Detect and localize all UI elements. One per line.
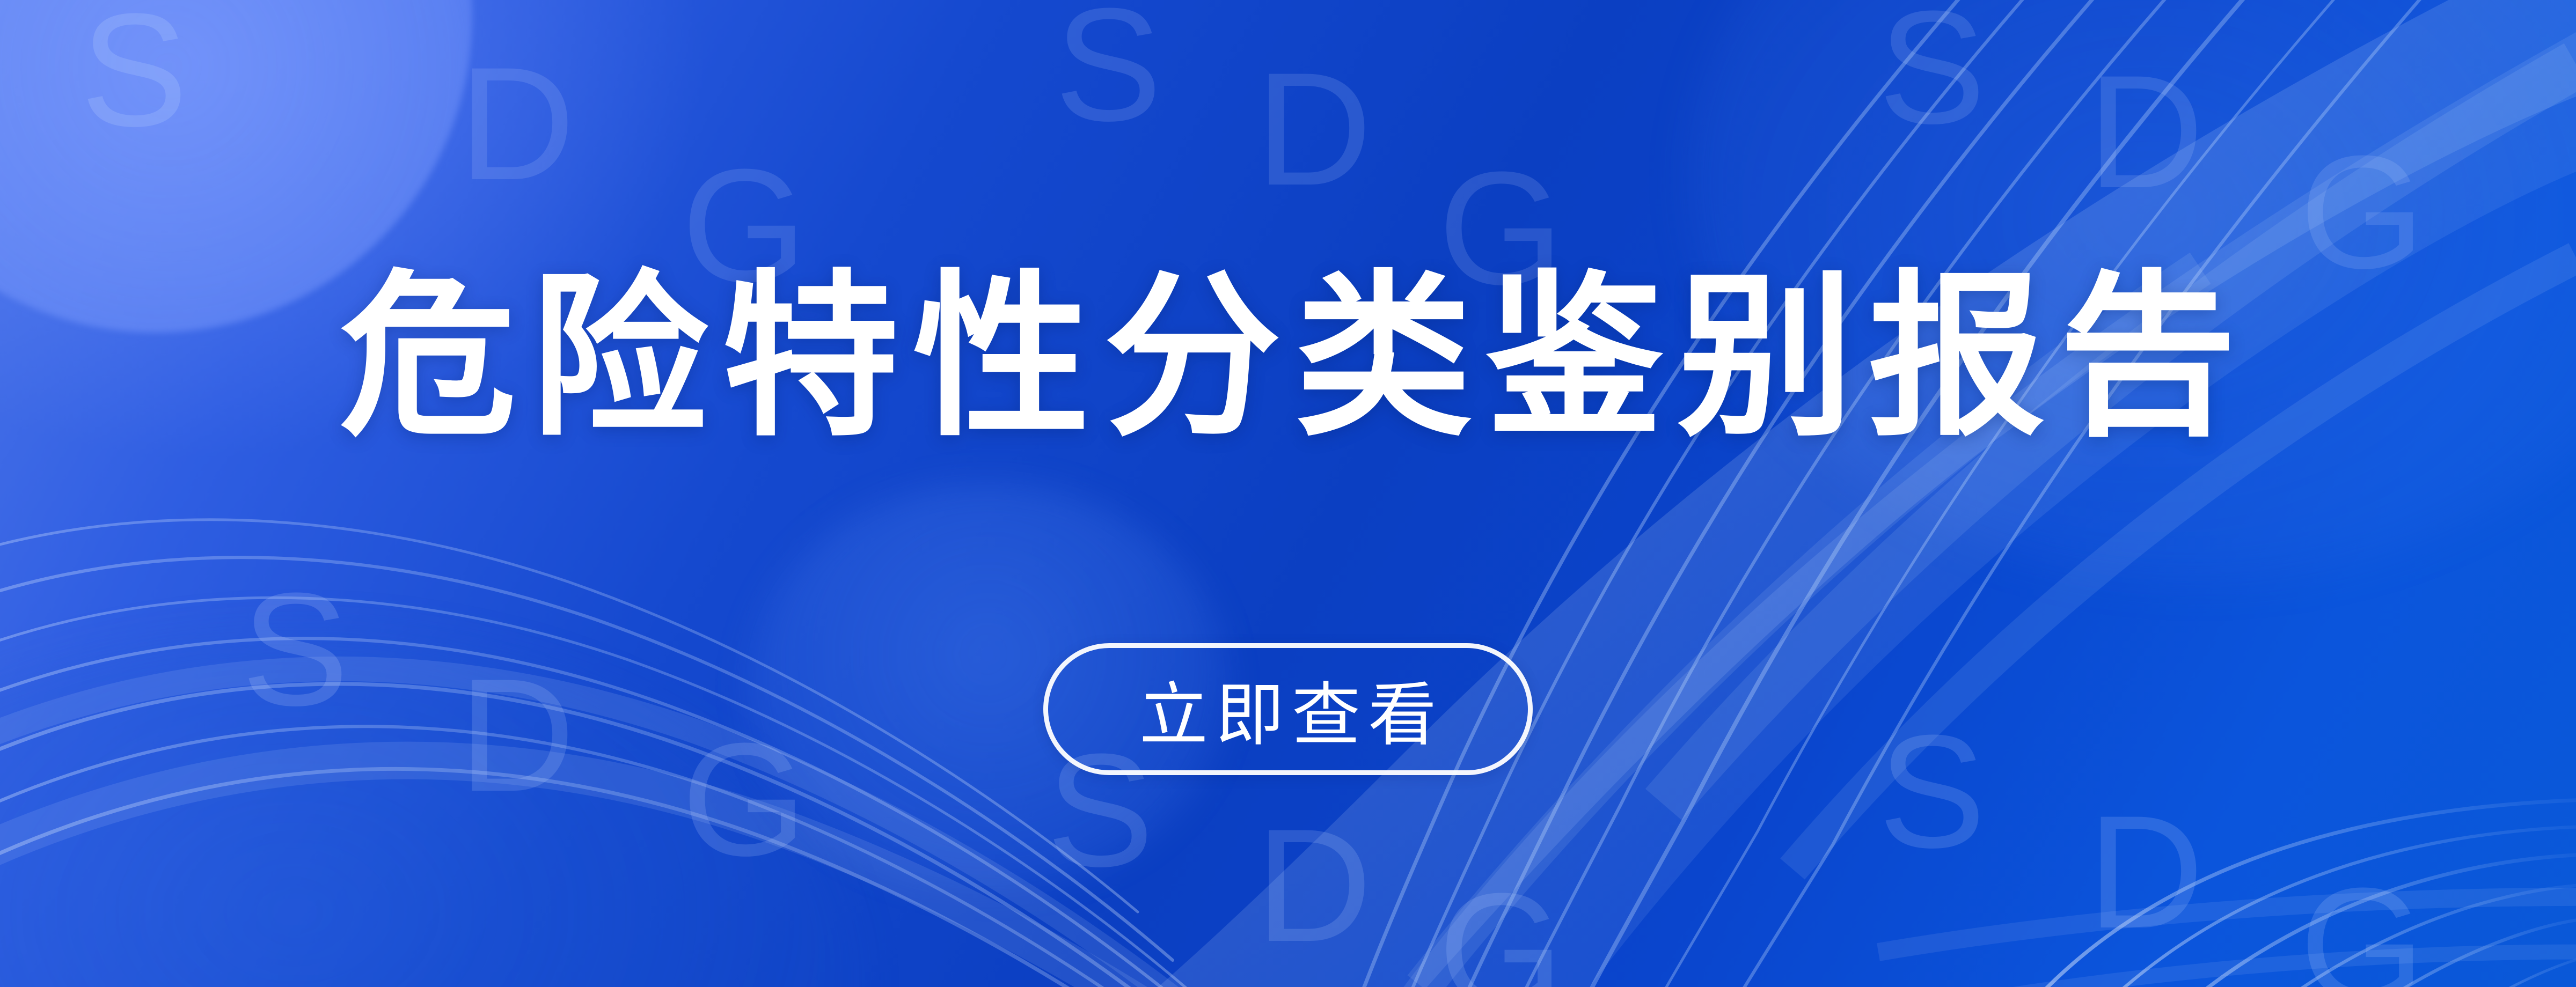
banner-content: 危险特性分类鉴别报告 立即查看 bbox=[0, 0, 2576, 987]
page-title: 危险特性分类鉴别报告 bbox=[326, 264, 2250, 452]
hero-banner: SDGSDGSDGSDGSDGSDG 危险特性分类鉴别报告 立即查看 bbox=[0, 0, 2576, 987]
view-now-button[interactable]: 立即查看 bbox=[1043, 643, 1533, 775]
